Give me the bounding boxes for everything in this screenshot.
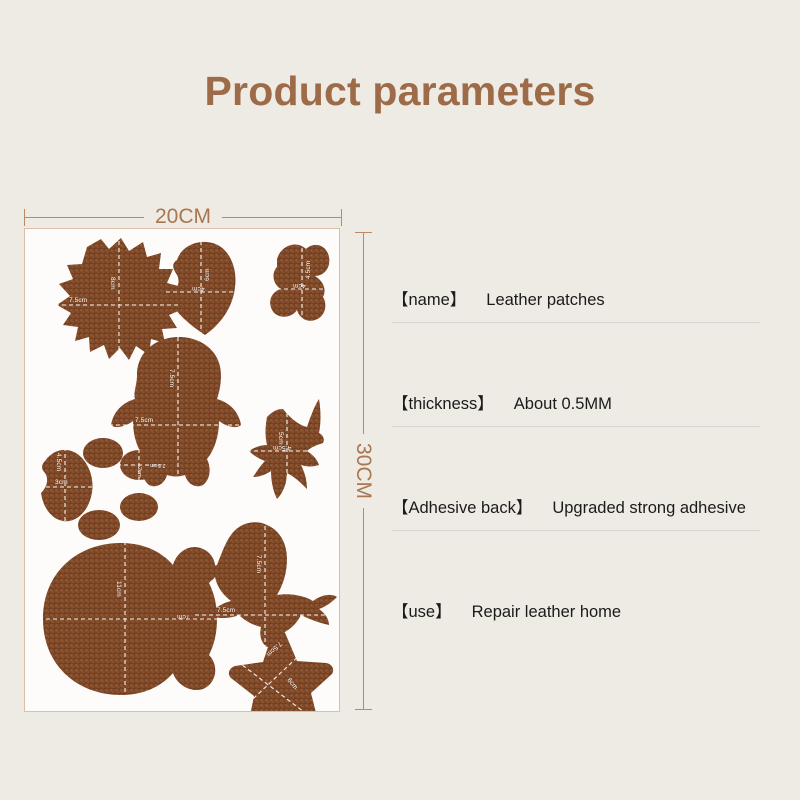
- paw-pad-width-label: 3cm: [55, 479, 68, 486]
- height-dimension-ruler: 30CM: [351, 232, 375, 710]
- parameter-value: Leather patches: [486, 291, 604, 310]
- row-divider: [392, 426, 760, 427]
- heart-height-label: 6cm: [204, 268, 211, 281]
- parameter-key: 【Adhesive back】: [392, 494, 532, 518]
- butterfly-width-label: 4cm: [293, 282, 306, 289]
- parameter-key: 【thickness】: [392, 390, 494, 414]
- product-parameters-page: Product parameters 20CM 30CM: [0, 0, 800, 800]
- parameter-list: 【name】 Leather patches 【thickness】 About…: [392, 270, 760, 686]
- sunflower-height-label: 8cm: [109, 277, 116, 290]
- parameter-value: Upgraded strong adhesive: [552, 499, 746, 518]
- bird-height-label: 7.5cm: [255, 555, 262, 573]
- bear-width-label: 7cm: [177, 613, 190, 620]
- paw-toe-patch: [78, 510, 120, 540]
- bear-height-label: 11cm: [115, 581, 122, 597]
- page-title: Product parameters: [0, 68, 800, 115]
- butterfly-height-label: 4.5cm: [305, 261, 312, 279]
- parameter-key: 【use】: [392, 598, 452, 622]
- paw-toe-patch: [120, 493, 158, 521]
- paw-toe-patch: [83, 438, 123, 468]
- bat-width-label: 4.5cm: [273, 444, 291, 451]
- parameter-key: 【name】: [392, 286, 466, 310]
- width-dimension-label: 20CM: [144, 206, 222, 228]
- parameter-row-thickness: 【thickness】 About 0.5MM: [392, 374, 760, 478]
- ruler-end-cap-bottom: [355, 709, 372, 710]
- paw-pad-height-label: 4.5cm: [55, 453, 62, 471]
- parameter-row-use: 【use】 Repair leather home: [392, 582, 760, 686]
- patch-sheet: 7.5cm 8cm 4cm 6cm 4cm 4.5cm 7.5cm 7.5cm …: [24, 228, 340, 712]
- paw-toe-width-label: 2.5cm: [150, 462, 165, 468]
- penguin-width-label: 7.5cm: [135, 417, 153, 424]
- sunflower-width-label: 7.5cm: [69, 297, 87, 304]
- parameter-value: Repair leather home: [472, 603, 622, 622]
- ruler-end-cap-top: [355, 232, 372, 233]
- product-sheet-diagram: 20CM 30CM: [18, 196, 378, 716]
- parameter-row-name: 【name】 Leather patches: [392, 270, 760, 374]
- ruler-end-cap-left: [24, 209, 25, 226]
- bird-width-label: 7.5cm: [217, 607, 235, 614]
- bird-patch: [197, 522, 337, 647]
- row-divider: [392, 322, 760, 323]
- ruler-end-cap-right: [341, 209, 342, 226]
- height-dimension-label: 30CM: [351, 434, 375, 508]
- parameter-row-adhesive-back: 【Adhesive back】 Upgraded strong adhesive: [392, 478, 760, 582]
- paw-toe-height-label: 2cm: [136, 467, 142, 478]
- row-divider: [392, 530, 760, 531]
- star-patch: [229, 627, 333, 712]
- width-dimension-ruler: 20CM: [24, 206, 342, 228]
- heart-width-label: 4cm: [192, 285, 205, 292]
- parameter-value: About 0.5MM: [514, 395, 612, 414]
- bat-height-label: 5cm: [277, 432, 284, 445]
- penguin-height-label: 7.5cm: [168, 369, 175, 387]
